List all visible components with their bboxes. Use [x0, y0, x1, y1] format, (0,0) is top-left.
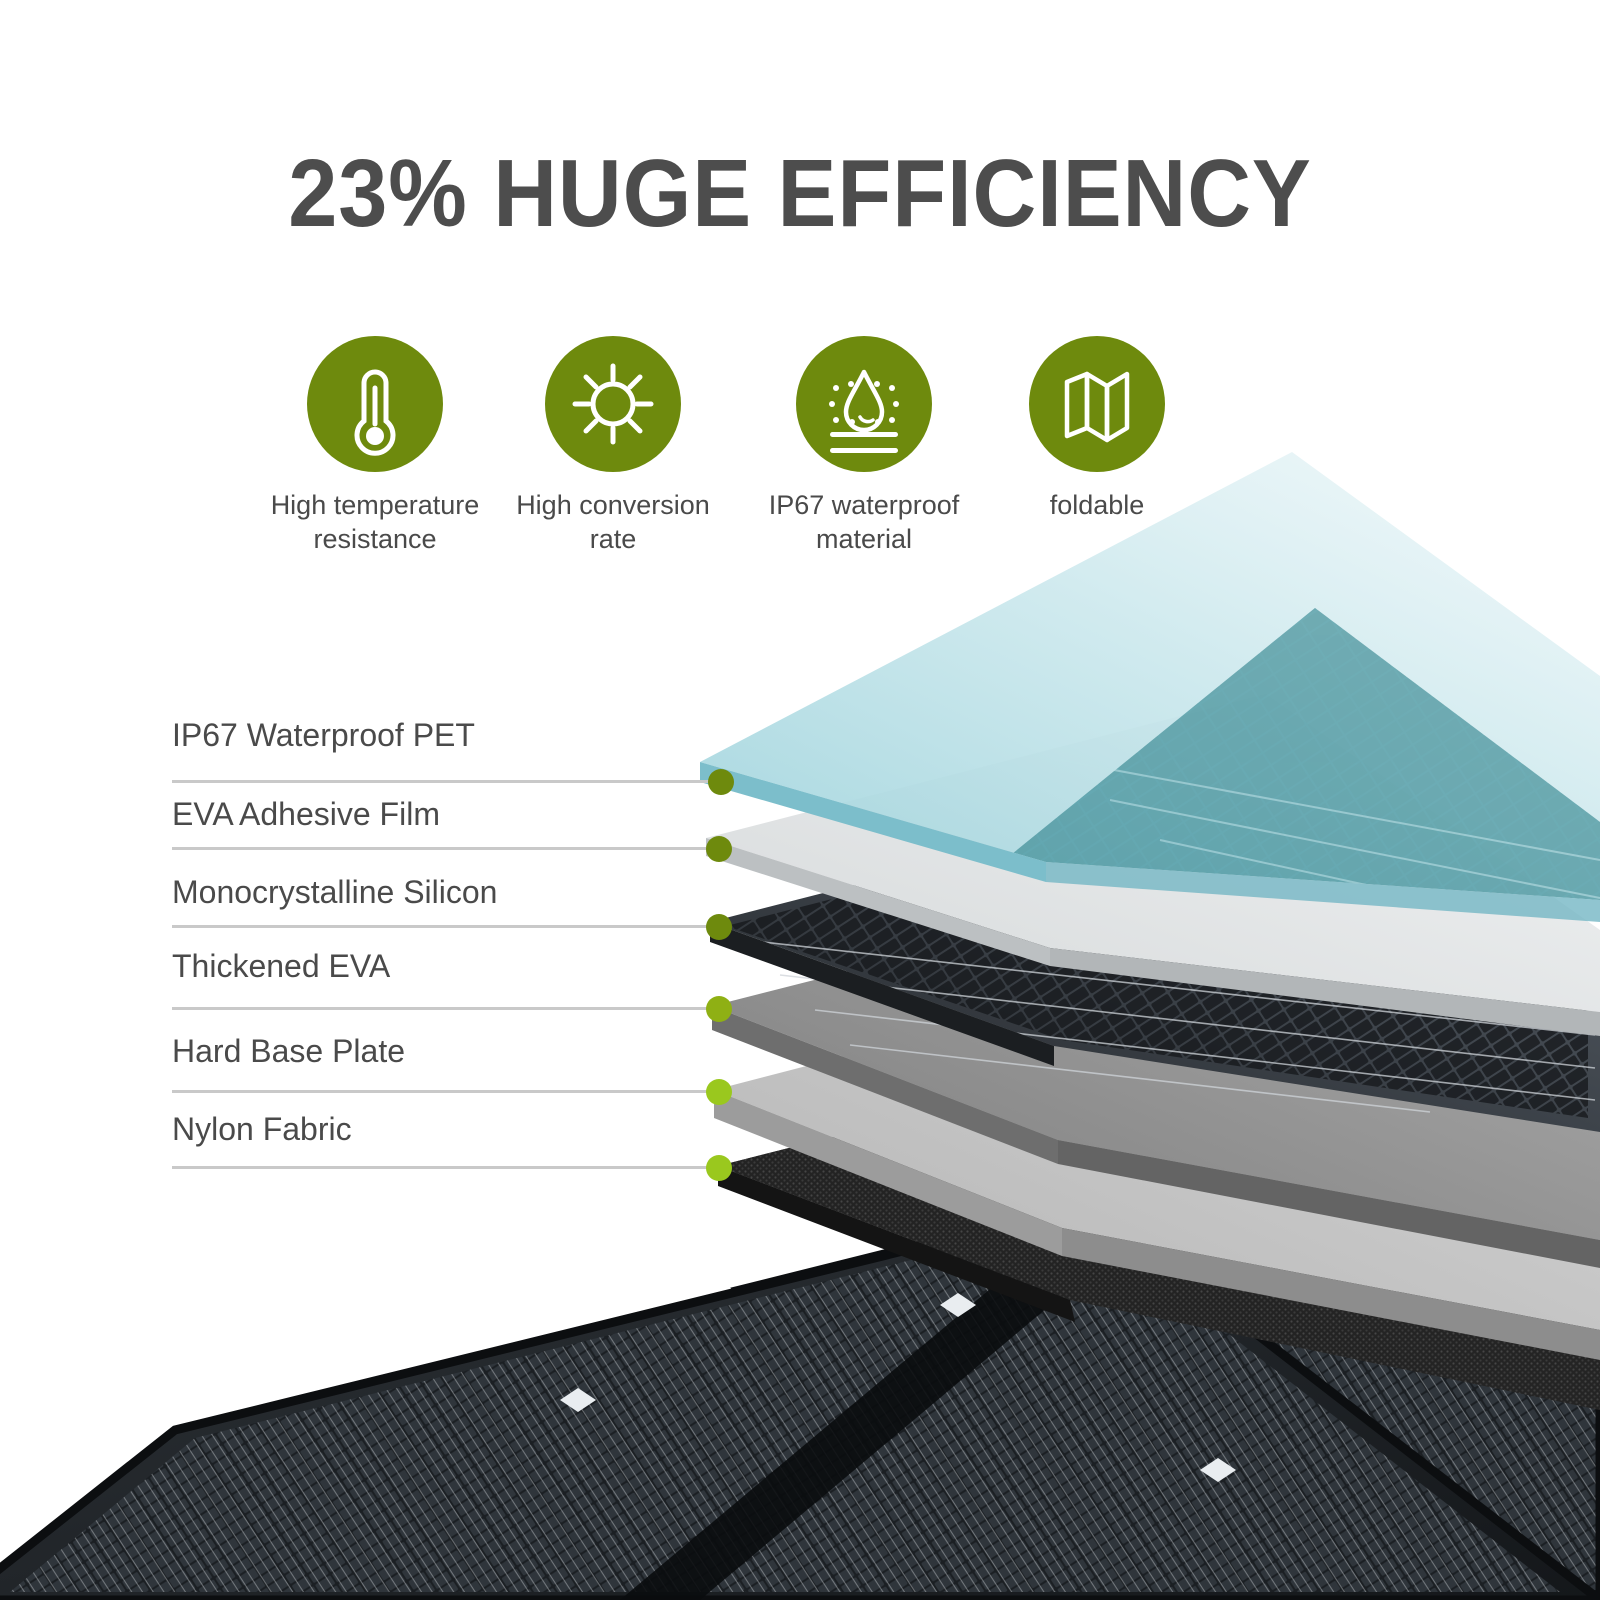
callout-label: IP67 Waterproof PET [172, 718, 475, 752]
leader-line [172, 1007, 718, 1010]
waterproof-icon [796, 336, 932, 472]
feature-foldable: foldable [982, 336, 1212, 522]
callout-label: Monocrystalline Silicon [172, 875, 497, 909]
callout-thickened-eva: Thickened EVA [172, 949, 390, 983]
sun-icon [545, 336, 681, 472]
leader-dot [706, 914, 732, 940]
feature-icon-circle [545, 336, 681, 472]
leader-dot [706, 836, 732, 862]
callout-eva-adhesive-film: EVA Adhesive Film [172, 797, 440, 831]
feature-icon-circle [1029, 336, 1165, 472]
callout-label: Thickened EVA [172, 949, 390, 983]
feature-label: foldable [982, 488, 1212, 522]
feature-high-conversion-rate: High conversion rate [498, 336, 728, 556]
callout-label: EVA Adhesive Film [172, 797, 440, 831]
callout-nylon-fabric: Nylon Fabric [172, 1112, 352, 1146]
thermometer-icon [307, 336, 443, 472]
leader-line [172, 1090, 718, 1093]
leader-dot [706, 996, 732, 1022]
leader-line [172, 1166, 718, 1169]
leader-dot [706, 1155, 732, 1181]
feature-high-temperature-resistance: High temperature resistance [260, 336, 490, 556]
leader-line [172, 780, 720, 783]
leader-dot [708, 769, 734, 795]
page-title: 23% HUGE EFFICIENCY [64, 146, 1536, 242]
callout-hard-base-plate: Hard Base Plate [172, 1034, 405, 1068]
feature-icon-circle [796, 336, 932, 472]
callout-ip67-waterproof-pet: IP67 Waterproof PET [172, 718, 475, 752]
callout-label: Nylon Fabric [172, 1112, 352, 1146]
leader-line [172, 847, 718, 850]
leader-line [172, 925, 718, 928]
feature-label: IP67 waterproof material [749, 488, 979, 556]
feature-icon-circle [307, 336, 443, 472]
feature-ip67-waterproof-material: IP67 waterproof material [749, 336, 979, 556]
feature-label: High temperature resistance [260, 488, 490, 556]
callout-monocrystalline-silicon: Monocrystalline Silicon [172, 875, 497, 909]
callout-label: Hard Base Plate [172, 1034, 405, 1068]
foldable-map-icon [1029, 336, 1165, 472]
leader-dot [706, 1079, 732, 1105]
feature-label: High conversion rate [498, 488, 728, 556]
